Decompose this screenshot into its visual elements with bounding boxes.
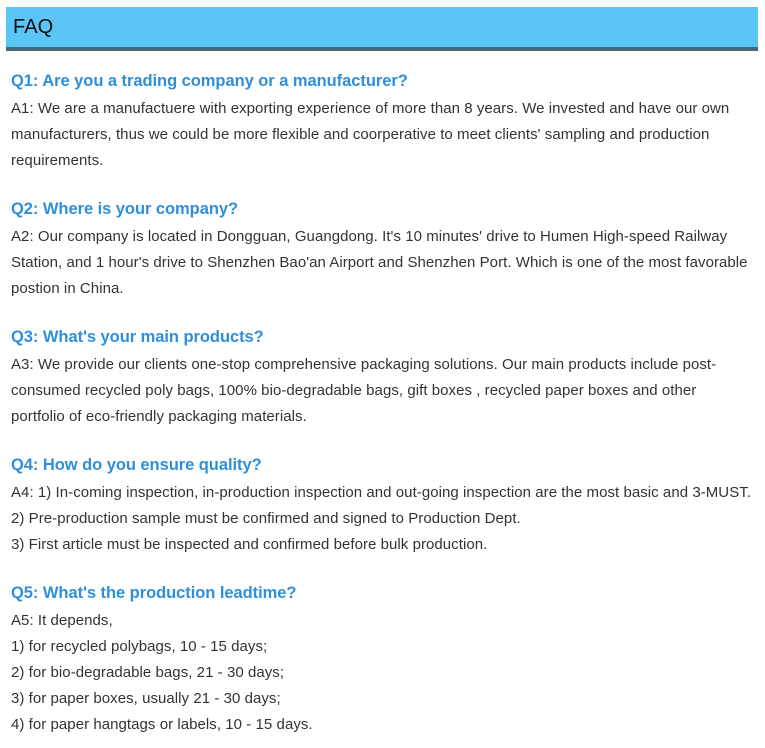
faq-answer-line: A2: Our company is located in Dongguan, … (11, 224, 753, 302)
faq-answer-line: 1) for recycled polybags, 10 - 15 days; (11, 634, 753, 660)
faq-item-4: Q4: How do you ensure quality? A4: 1) In… (11, 452, 753, 558)
faq-answer-5: A5: It depends, 1) for recycled polybags… (11, 608, 753, 738)
faq-question-2: Q2: Where is your company? (11, 196, 753, 222)
faq-question-4: Q4: How do you ensure quality? (11, 452, 753, 478)
faq-answer-line: 4) for paper hangtags or labels, 10 - 15… (11, 712, 753, 738)
faq-item-1: Q1: Are you a trading company or a manuf… (11, 68, 753, 174)
faq-answer-line: A3: We provide our clients one-stop comp… (11, 352, 753, 430)
faq-question-5: Q5: What's the production leadtime? (11, 580, 753, 606)
faq-item-5: Q5: What's the production leadtime? A5: … (11, 580, 753, 738)
page-title: FAQ (6, 17, 53, 37)
faq-answer-4: A4: 1) In-coming inspection, in-producti… (11, 480, 753, 558)
faq-question-3: Q3: What's your main products? (11, 324, 753, 350)
faq-item-3: Q3: What's your main products? A3: We pr… (11, 324, 753, 430)
faq-answer-line: 2) Pre-production sample must be confirm… (11, 506, 753, 532)
faq-answer-2: A2: Our company is located in Dongguan, … (11, 224, 753, 302)
faq-answer-1: A1: We are a manufactuere with exporting… (11, 96, 753, 174)
faq-item-2: Q2: Where is your company? A2: Our compa… (11, 196, 753, 302)
faq-question-1: Q1: Are you a trading company or a manuf… (11, 68, 753, 94)
faq-answer-3: A3: We provide our clients one-stop comp… (11, 352, 753, 430)
faq-answer-line: A4: 1) In-coming inspection, in-producti… (11, 480, 753, 506)
faq-answer-line: A1: We are a manufactuere with exporting… (11, 96, 753, 174)
faq-banner: FAQ (6, 7, 758, 51)
faq-list: Q1: Are you a trading company or a manuf… (11, 68, 753, 738)
faq-answer-line: 2) for bio-degradable bags, 21 - 30 days… (11, 660, 753, 686)
faq-answer-line: A5: It depends, (11, 608, 753, 634)
faq-page: FAQ Q1: Are you a trading company or a m… (0, 0, 765, 748)
faq-answer-line: 3) for paper boxes, usually 21 - 30 days… (11, 686, 753, 712)
faq-answer-line: 3) First article must be inspected and c… (11, 532, 753, 558)
